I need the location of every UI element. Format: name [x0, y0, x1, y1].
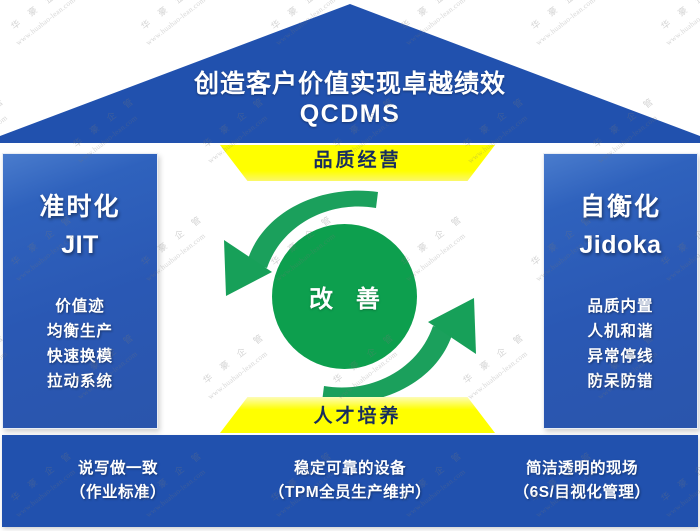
foundation-cell-line2: （TPM全员生产维护）	[234, 481, 466, 505]
kaizen-label: 改 善	[272, 224, 417, 369]
pillar-left-title-cn: 准时化	[3, 187, 157, 223]
pillar-right-items: 品质内置 人机和谐 异常停线 防呆防错	[544, 294, 697, 394]
list-item: 异常停线	[544, 344, 697, 369]
pillar-left-title-en: JIT	[3, 231, 157, 260]
roof-title-cn: 创造客户价值实现卓越绩效	[0, 70, 700, 98]
list-item: 人机和谐	[544, 319, 697, 344]
foundation-cell-6s[interactable]: 简洁透明的现场 （6S/目视化管理）	[466, 457, 698, 505]
foundation-bar: 说写做一致 （作业标准） 稳定可靠的设备 （TPM全员生产维护） 简洁透明的现场…	[2, 435, 698, 527]
foundation-cell-line2: （作业标准）	[2, 481, 234, 505]
foundation-cell-line1: 说写做一致	[78, 460, 158, 477]
roof-title-en: QCDMS	[0, 100, 700, 128]
list-item: 均衡生产	[3, 319, 157, 344]
ribbon-talent-development[interactable]: 人才培养	[220, 397, 495, 433]
foundation-cell-line1: 稳定可靠的设备	[294, 460, 406, 477]
foundation-cell-line2: （6S/目视化管理）	[466, 481, 698, 505]
list-item: 品质内置	[544, 294, 697, 319]
pillar-left-items: 价值迹 均衡生产 快速换模 拉动系统	[3, 294, 157, 394]
list-item: 拉动系统	[3, 369, 157, 394]
pillar-right-title-cn: 自衡化	[544, 187, 697, 223]
list-item: 价值迹	[3, 294, 157, 319]
kaizen-circle[interactable]: 改 善	[272, 224, 417, 369]
pillar-right-title-en: Jidoka	[544, 231, 697, 260]
lean-house-diagram: 创造客户价值实现卓越绩效 QCDMS 准时化 JIT 价值迹 均衡生产 快速换模…	[0, 0, 700, 531]
list-item: 防呆防错	[544, 369, 697, 394]
roof-title-block: 创造客户价值实现卓越绩效 QCDMS	[0, 70, 700, 128]
pillar-right-jidoka[interactable]: 自衡化 Jidoka 品质内置 人机和谐 异常停线 防呆防错	[543, 153, 698, 429]
ribbon-quality-management[interactable]: 品质经营	[220, 145, 495, 181]
kaizen-wheel: 改 善	[210, 186, 490, 408]
pillar-left-jit[interactable]: 准时化 JIT 价值迹 均衡生产 快速换模 拉动系统	[2, 153, 158, 429]
foundation-cell-line1: 简洁透明的现场	[526, 460, 638, 477]
foundation-cell-standards[interactable]: 说写做一致 （作业标准）	[2, 457, 234, 505]
list-item: 快速换模	[3, 344, 157, 369]
foundation-cell-tpm[interactable]: 稳定可靠的设备 （TPM全员生产维护）	[234, 457, 466, 505]
